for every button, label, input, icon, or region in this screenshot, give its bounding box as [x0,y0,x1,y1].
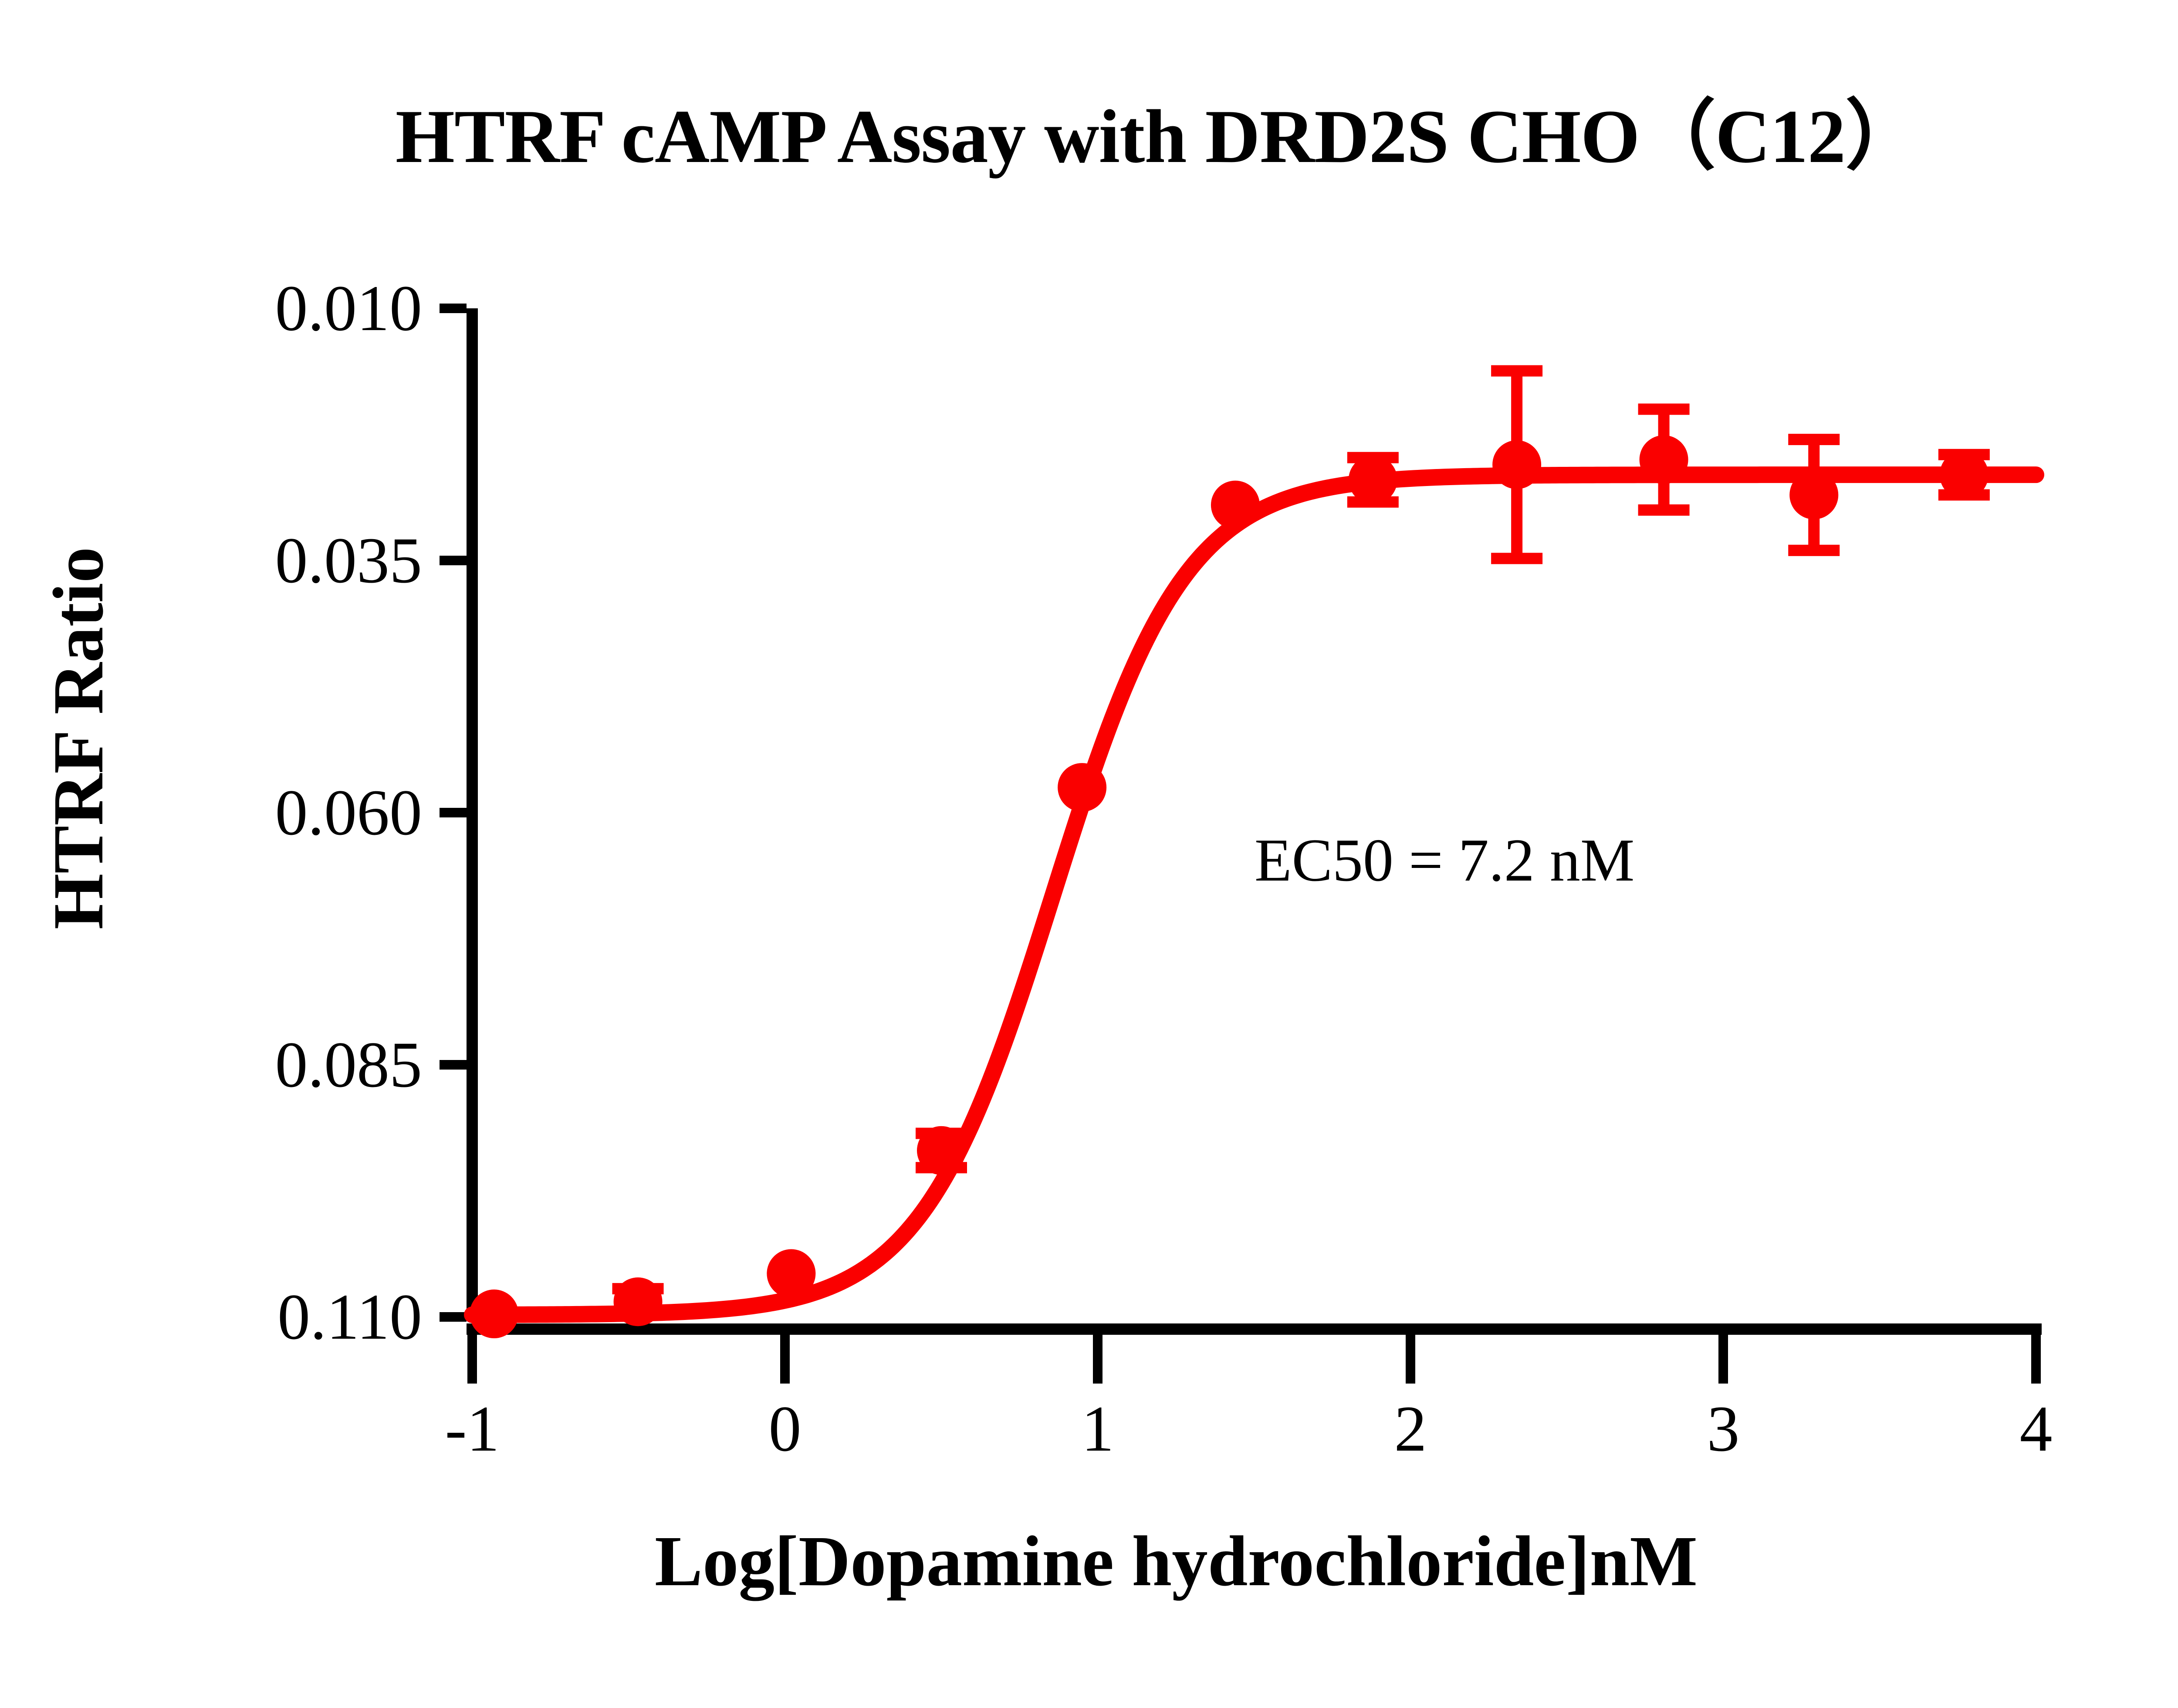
data-point[interactable] [1058,763,1106,812]
data-point[interactable] [1492,440,1541,489]
x-axis-tick [1406,1335,1415,1384]
y-axis-spine [467,308,478,1317]
error-bar-cap-upper [1788,434,1840,445]
data-point[interactable] [917,1126,966,1175]
y-axis-tick-label: 0.110 [47,1279,422,1354]
x-axis-tick-label: -1 [407,1391,538,1466]
axes [440,304,2042,1384]
error-bar-cap-lower [1638,504,1690,516]
x-axis-tick [467,1335,477,1384]
error-bar-cap-lower [1491,553,1542,564]
y-axis-tick-label: 0.035 [47,523,422,598]
error-bar-cap-upper [1491,365,1542,377]
x-axis-tick-label: 3 [1658,1391,1789,1466]
y-axis-tick [440,304,467,313]
y-axis-tick-label: 0.010 [47,271,422,346]
y-axis-tick-label: 0.060 [47,775,422,850]
x-axis-tick-label: 2 [1345,1391,1476,1466]
x-axis-tick [2031,1335,2041,1384]
data-point[interactable] [1349,456,1397,504]
data-point[interactable] [1940,450,1989,499]
x-axis-spine [467,1323,2042,1335]
data-point[interactable] [1211,481,1260,530]
x-axis-tick-label: 0 [720,1391,850,1466]
data-point[interactable] [1789,470,1838,519]
data-point[interactable] [614,1277,663,1326]
error-bar-cap-upper [1638,404,1690,415]
x-axis-tick [780,1335,790,1384]
fit-curve [472,475,2036,1315]
data-point[interactable] [470,1289,518,1338]
y-axis-tick [440,808,467,817]
data-point[interactable] [767,1249,815,1298]
data-point[interactable] [1640,435,1688,484]
y-axis-tick [440,1312,467,1322]
x-axis-tick [1093,1335,1103,1384]
y-axis-tick [440,1060,467,1070]
series-layer [470,365,2036,1338]
y-axis-tick-label: 0.085 [47,1027,422,1102]
y-axis-tick [440,556,467,565]
x-axis-tick-label: 1 [1032,1391,1163,1466]
x-axis-tick-label: 4 [1971,1391,2101,1466]
x-axis-tick [1718,1335,1728,1384]
figure: HTRF cAMP Assay with DRD2S CHO（C12） HTRF… [0,0,2178,1708]
error-bar-cap-lower [1788,545,1840,556]
